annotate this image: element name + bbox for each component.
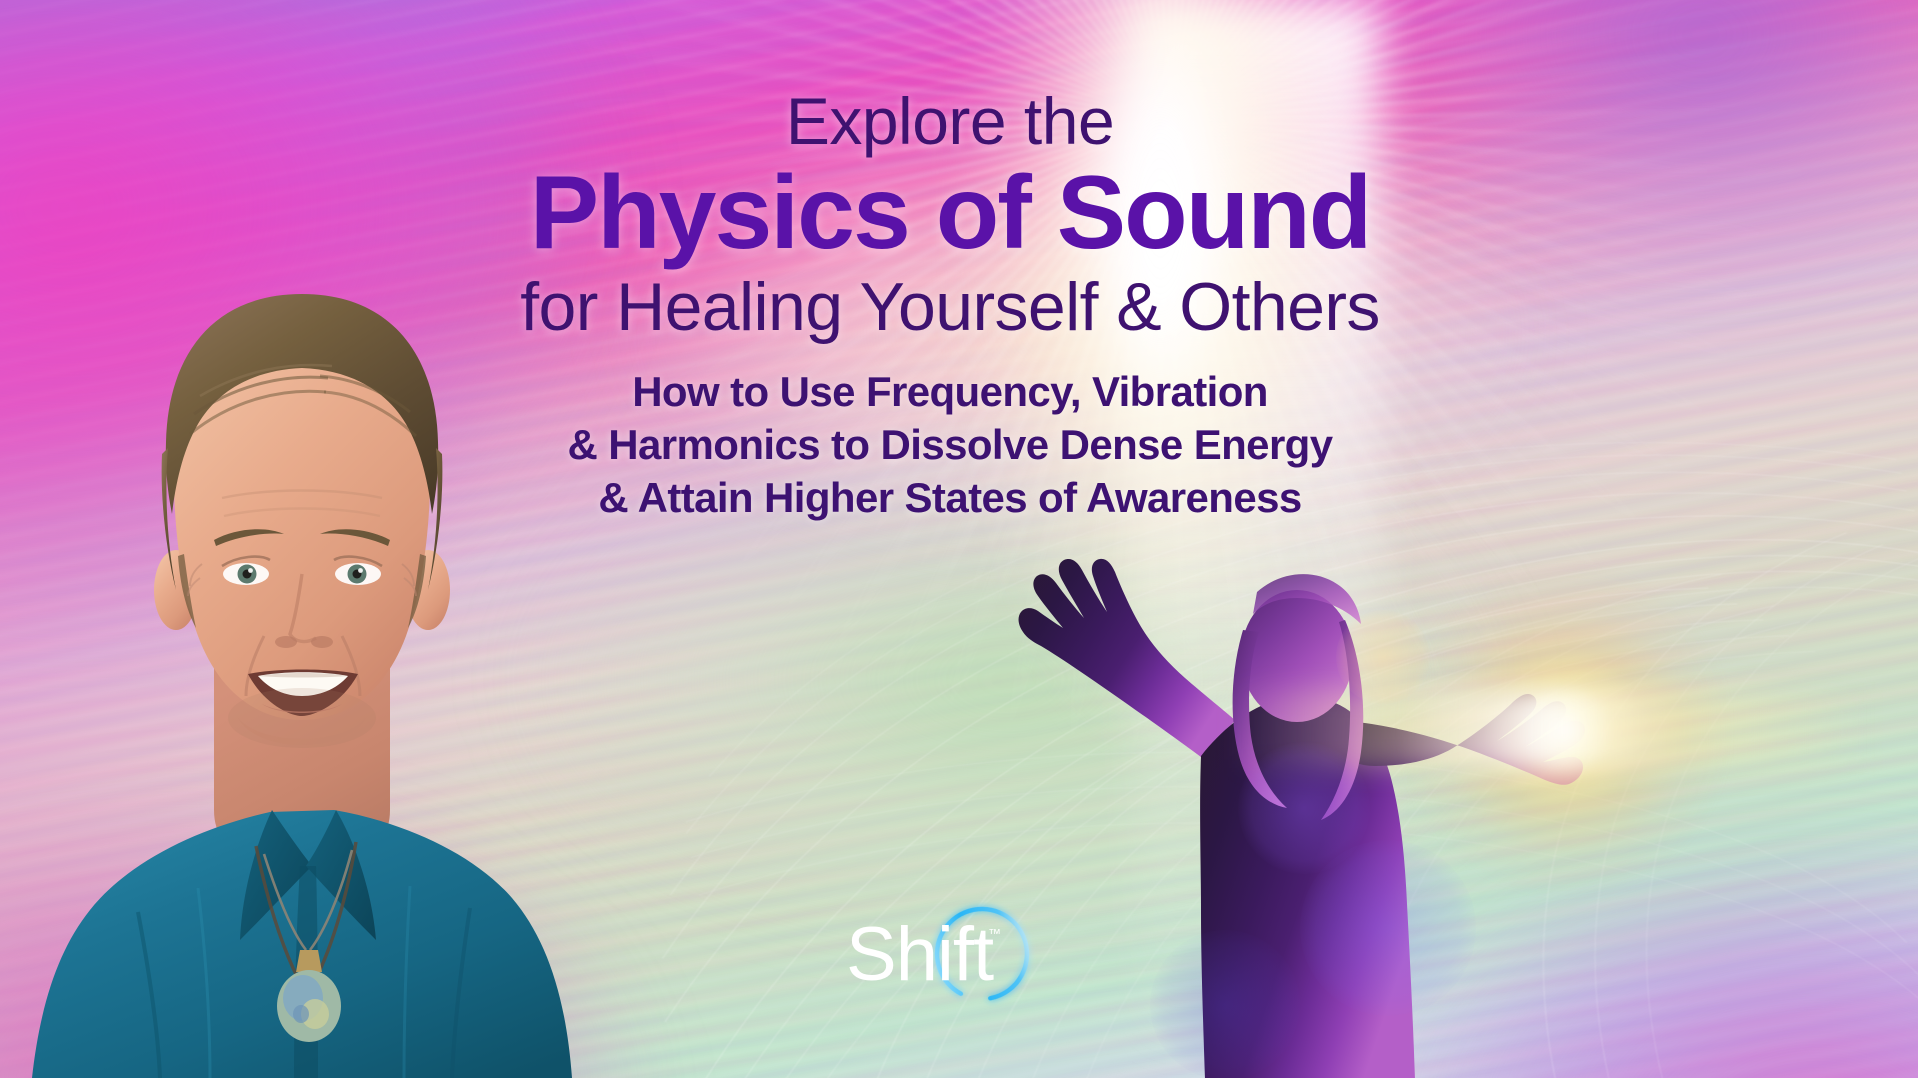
logo-wordmark: Shift [846,912,994,997]
headline-block: Explore the Physics of Sound for Healing… [430,88,1470,525]
headline-title: Physics of Sound [430,160,1470,266]
subtitle-line-3: & Attain Higher States of Awareness [430,471,1470,524]
subtitle-line-1: How to Use Frequency, Vibration [430,365,1470,418]
headline-eyebrow: Explore the [430,88,1470,154]
headline-tail: for Healing Yourself & Others [430,272,1470,343]
shift-logo[interactable]: Shift ™ [838,898,1058,1014]
promotional-banner: Explore the Physics of Sound for Healing… [0,0,1918,1078]
logo-trademark: ™ [988,926,1001,941]
subtitle-block: How to Use Frequency, Vibration & Harmon… [430,365,1470,525]
subtitle-line-2: & Harmonics to Dissolve Dense Energy [430,418,1470,471]
